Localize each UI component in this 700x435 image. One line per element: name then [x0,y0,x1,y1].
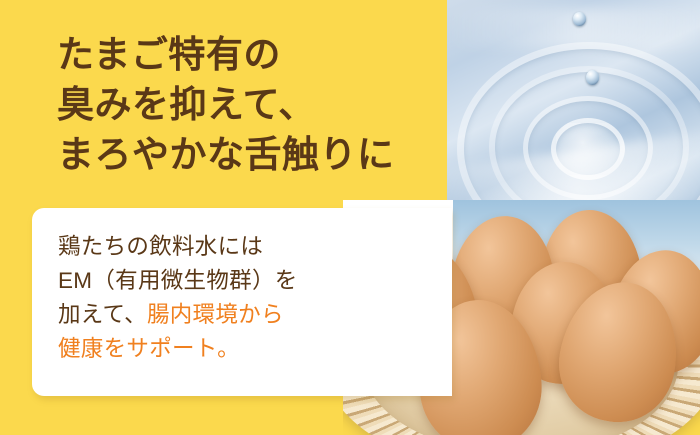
water-droplet-lower-icon [586,70,599,85]
info-card: 鶏たちの飲料水には EM（有用微生物群）を 加えて、腸内環境から 健康をサポート… [32,208,452,396]
info-card-text: 鶏たちの飲料水には EM（有用微生物群）を 加えて、腸内環境から 健康をサポート… [58,230,358,366]
promo-banner: たまご特有の 臭みを抑えて、 まろやかな舌触りに 鶏たちの飲料水には EM（有用… [0,0,700,435]
headline: たまご特有の 臭みを抑えて、 まろやかな舌触りに [57,30,395,180]
water-droplet-upper-icon [573,12,586,26]
